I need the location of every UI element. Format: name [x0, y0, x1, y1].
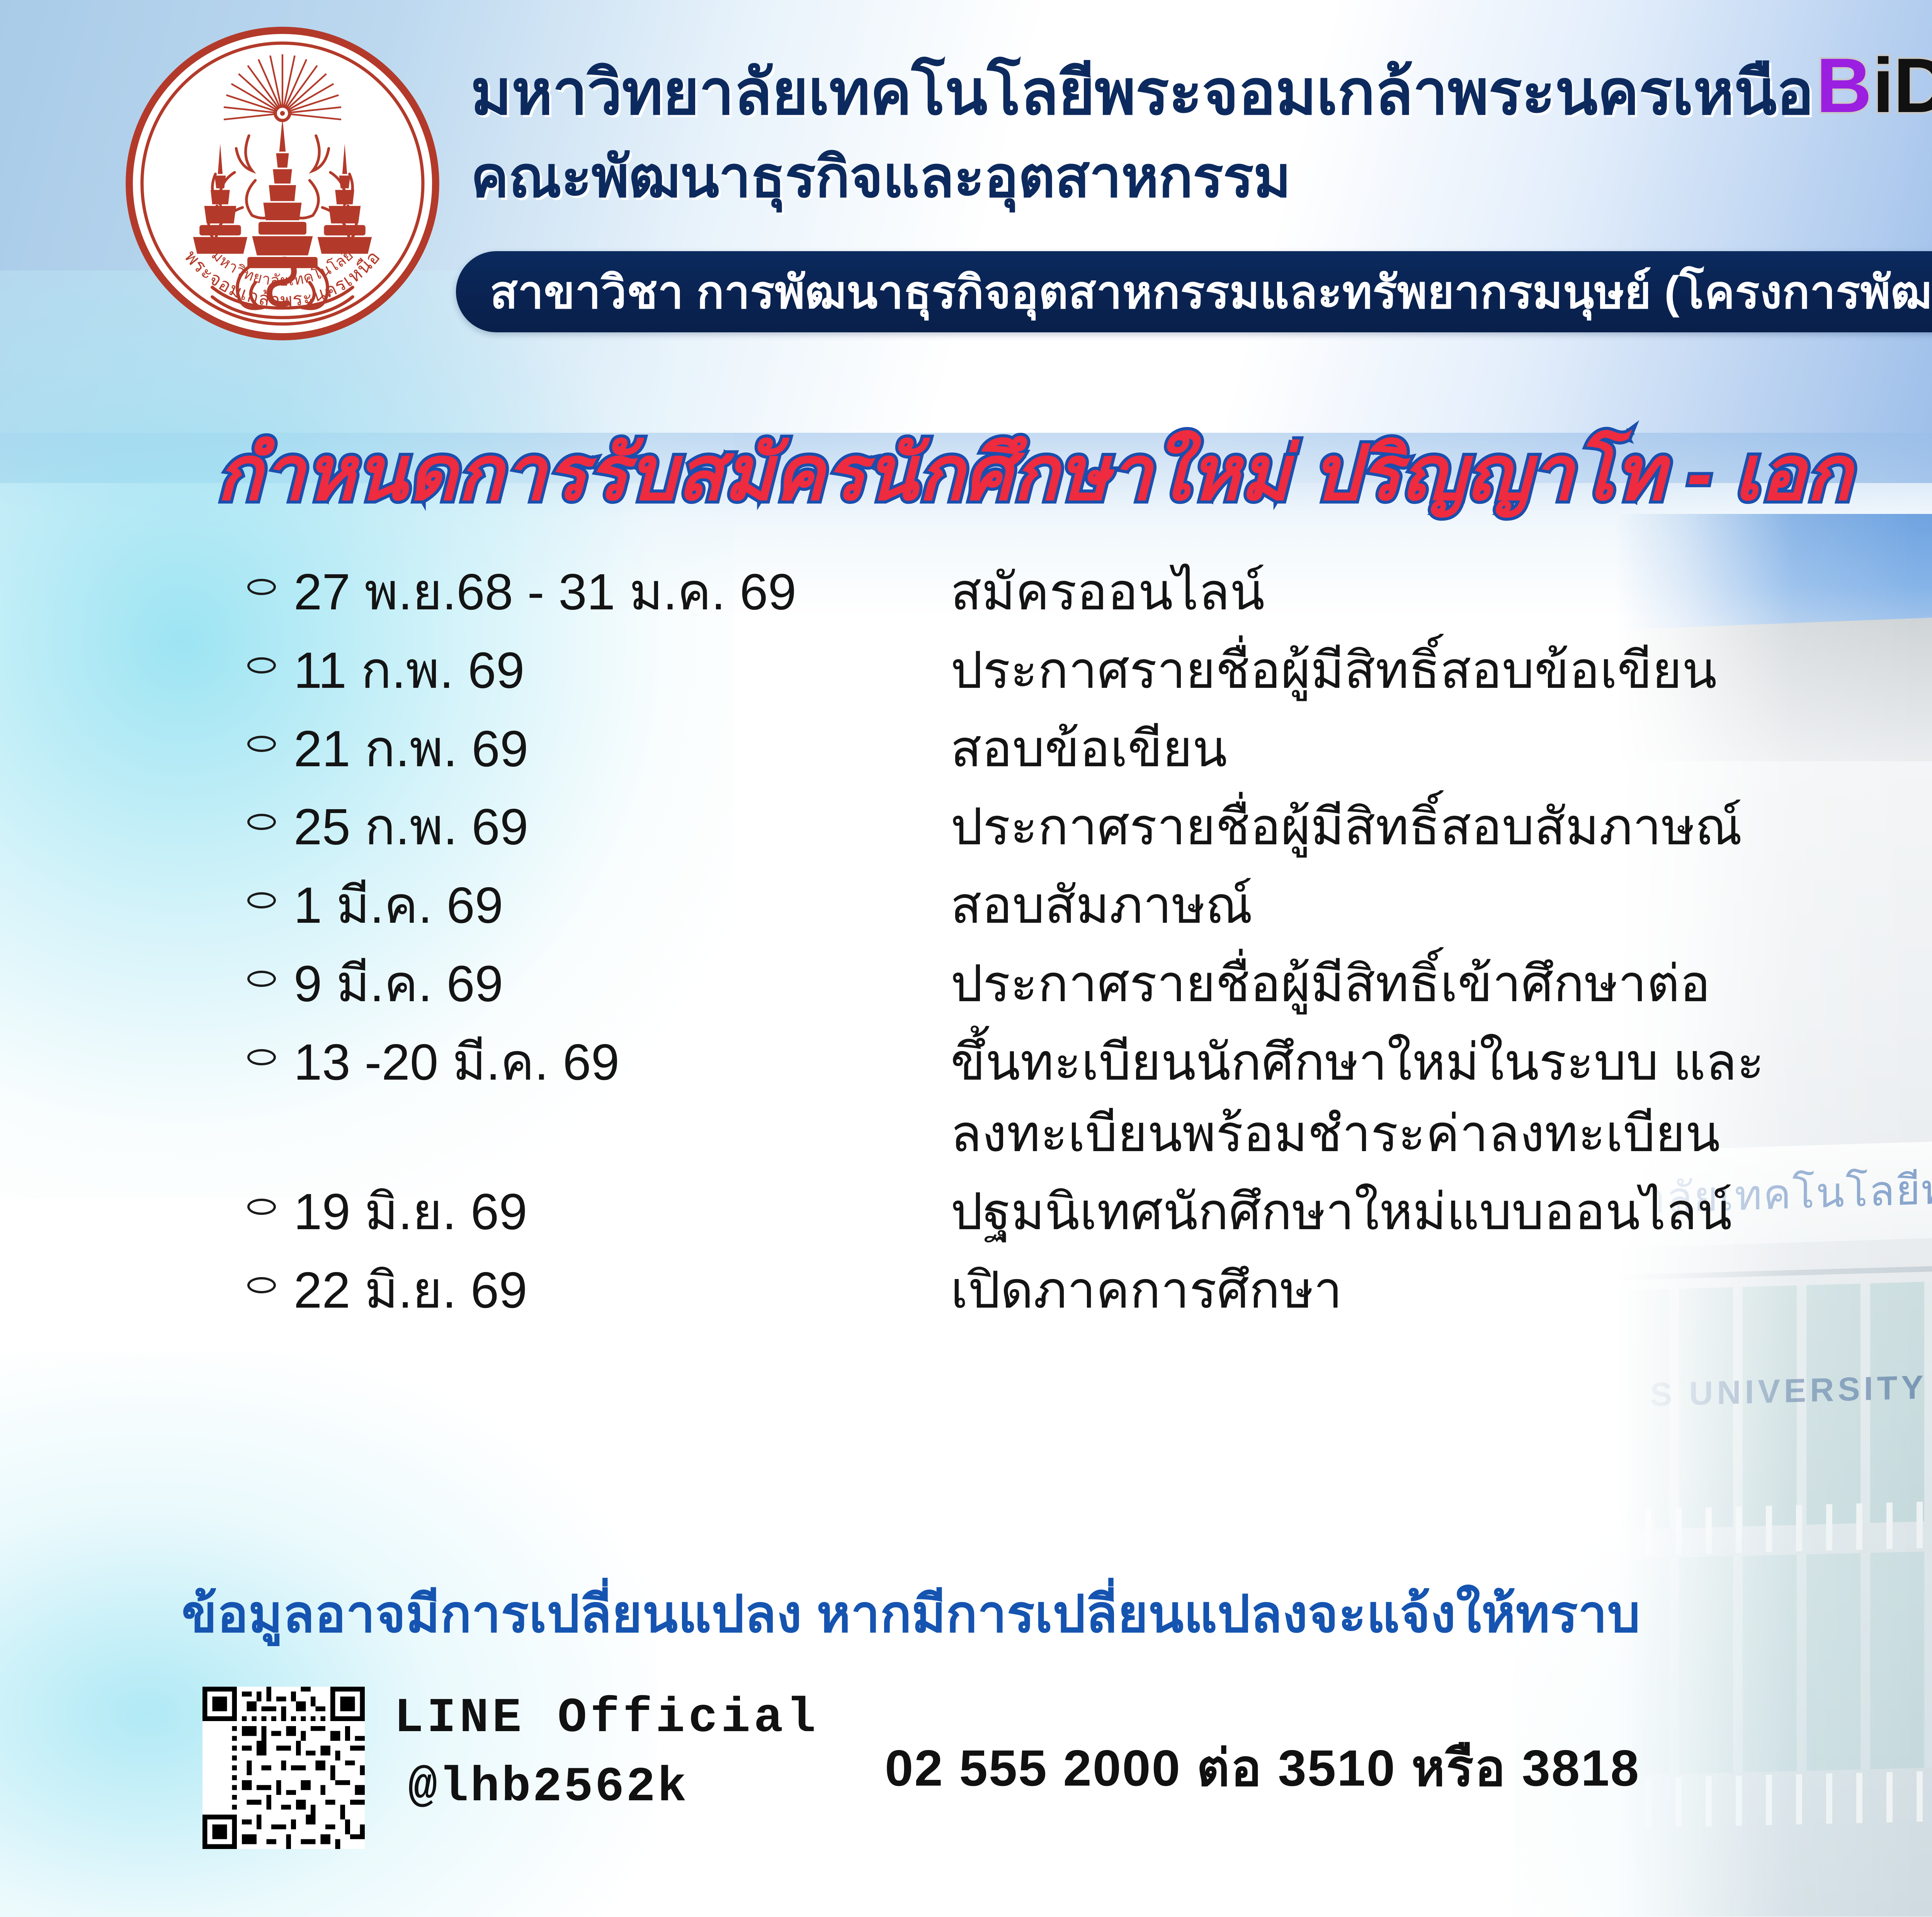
bullet-icon — [247, 1255, 294, 1293]
bullet-icon — [247, 791, 294, 830]
schedule-description-line1: ประกาศรายชื่อผู้มีสิทธิ์เข้าศึกษาต่อ — [951, 955, 1710, 1012]
schedule-date: 9 มี.ค. 69 — [294, 948, 951, 1020]
schedule-description-line1: ประกาศรายชื่อผู้มีสิทธิ์สอบสัมภาษณ์ — [951, 798, 1742, 855]
schedule-description-line1: ขึ้นทะเบียนนักศึกษาใหม่ในระบบ และ — [951, 1034, 1764, 1090]
line-official-label: LINE Official — [394, 1691, 819, 1746]
program-banner: สาขาวิชา การพัฒนาธุรกิจอุตสาหกรรมและทรัพ… — [456, 251, 1932, 332]
poster-canvas: าลัยเทคโนโลยีพระจ ะนครเหนือ S UNIVERSITY… — [0, 0, 1932, 1917]
schedule-description-line1: สมัครออนไลน์ — [951, 563, 1265, 620]
schedule-description-line1: เปิดภาคการศึกษา — [951, 1262, 1342, 1318]
schedule-description-line1: สอบสัมภาษณ์ — [951, 877, 1253, 934]
schedule-date: 22 มิ.ย. 69 — [294, 1255, 951, 1326]
university-name: มหาวิทยาลัยเทคโนโลยีพระจอมเกล้าพระนครเหน… — [471, 43, 1814, 142]
bid-logo: B i D — [1816, 43, 1932, 139]
schedule-date: 21 ก.พ. 69 — [294, 713, 951, 785]
schedule-date: 11 ก.พ. 69 — [294, 635, 951, 706]
schedule-row: 27 พ.ย.68 - 31 ม.ค. 69สมัครออนไลน์ — [247, 556, 1932, 628]
faculty-name: คณะพัฒนาธุรกิจและอุตสาหกรรม — [471, 131, 1291, 222]
line-qr-code[interactable] — [202, 1687, 365, 1849]
schedule-description: ประกาศรายชื่อผู้มีสิทธิ์สอบสัมภาษณ์ — [951, 791, 1932, 863]
schedule-description: สอบข้อเขียน — [951, 713, 1932, 785]
bid-letter-b: B — [1816, 43, 1872, 129]
schedule-row: 21 ก.พ. 69สอบข้อเขียน — [247, 713, 1932, 785]
bullet-icon — [247, 556, 294, 595]
schedule-date: 13 -20 มี.ค. 69 — [294, 1027, 951, 1098]
schedule-description: สอบสัมภาษณ์ — [951, 870, 1932, 941]
bid-letter-i: i — [1872, 43, 1894, 129]
schedule-row: 11 ก.พ. 69ประกาศรายชื่อผู้มีสิทธิ์สอบข้อ… — [247, 635, 1932, 706]
contact-phone: 02 555 2000 ต่อ 3510 หรือ 3818 — [885, 1727, 1640, 1808]
schedule-description: ปฐมนิเทศนักศึกษาใหม่แบบออนไลน์ — [951, 1176, 1932, 1248]
bullet-icon — [247, 1176, 294, 1215]
schedule-row: 25 ก.พ. 69ประกาศรายชื่อผู้มีสิทธิ์สอบสัม… — [247, 791, 1932, 863]
schedule-description-line1: สอบข้อเขียน — [951, 720, 1227, 777]
bid-letter-d: D — [1893, 43, 1932, 129]
schedule-row: 9 มี.ค. 69ประกาศรายชื่อผู้มีสิทธิ์เข้าศึ… — [247, 948, 1932, 1020]
bullet-icon — [247, 870, 294, 908]
university-seal-logo: พระจอมเกล้าพระนครเหนือ มหาวิทยาลัยเทคโนโ… — [123, 24, 442, 343]
bullet-icon — [247, 635, 294, 674]
schedule-row: 13 -20 มี.ค. 69ขึ้นทะเบียนนักศึกษาใหม่ใน… — [247, 1027, 1932, 1170]
schedule-description-line1: ปฐมนิเทศนักศึกษาใหม่แบบออนไลน์ — [951, 1183, 1732, 1240]
program-banner-text: สาขาวิชา การพัฒนาธุรกิจอุตสาหกรรมและทรัพ… — [490, 255, 1932, 328]
schedule-row: 1 มี.ค. 69สอบสัมภาษณ์ — [247, 870, 1932, 941]
admission-schedule-list: 27 พ.ย.68 - 31 ม.ค. 69สมัครออนไลน์11 ก.พ… — [247, 556, 1932, 1333]
schedule-row: 22 มิ.ย. 69เปิดภาคการศึกษา — [247, 1255, 1932, 1326]
bullet-icon — [247, 1027, 294, 1065]
schedule-row: 19 มิ.ย. 69ปฐมนิเทศนักศึกษาใหม่แบบออนไลน… — [247, 1176, 1932, 1248]
schedule-description: ประกาศรายชื่อผู้มีสิทธิ์สอบข้อเขียน — [951, 635, 1932, 706]
bullet-icon — [247, 948, 294, 987]
schedule-description-line2: ลงทะเบียนพร้อมชำระค่าลงทะเบียน — [951, 1098, 1932, 1170]
line-contact-block: LINE Official @lhb2562k — [394, 1691, 819, 1815]
bullet-icon — [247, 713, 294, 752]
change-notice: ข้อมูลอาจมีการเปลี่ยนแปลง หากมีการเปลี่ย… — [182, 1573, 1640, 1655]
schedule-date: 25 ก.พ. 69 — [294, 791, 951, 863]
schedule-date: 27 พ.ย.68 - 31 ม.ค. 69 — [294, 556, 951, 628]
schedule-date: 19 มิ.ย. 69 — [294, 1176, 951, 1248]
line-official-id[interactable]: @lhb2562k — [408, 1760, 819, 1815]
schedule-description-line1: ประกาศรายชื่อผู้มีสิทธิ์สอบข้อเขียน — [951, 642, 1717, 699]
page-title: กำหนดการรับสมัครนักศึกษาใหม่ ปริญญาโท - … — [216, 413, 1932, 533]
photo-building-windows-lower — [1615, 1532, 1932, 1775]
schedule-description: ขึ้นทะเบียนนักศึกษาใหม่ในระบบ และลงทะเบี… — [951, 1027, 1932, 1170]
schedule-description: ประกาศรายชื่อผู้มีสิทธิ์เข้าศึกษาต่อ — [951, 948, 1932, 1020]
schedule-description: สมัครออนไลน์ — [951, 556, 1932, 628]
schedule-description: เปิดภาคการศึกษา — [951, 1255, 1932, 1326]
schedule-date: 1 มี.ค. 69 — [294, 870, 951, 941]
